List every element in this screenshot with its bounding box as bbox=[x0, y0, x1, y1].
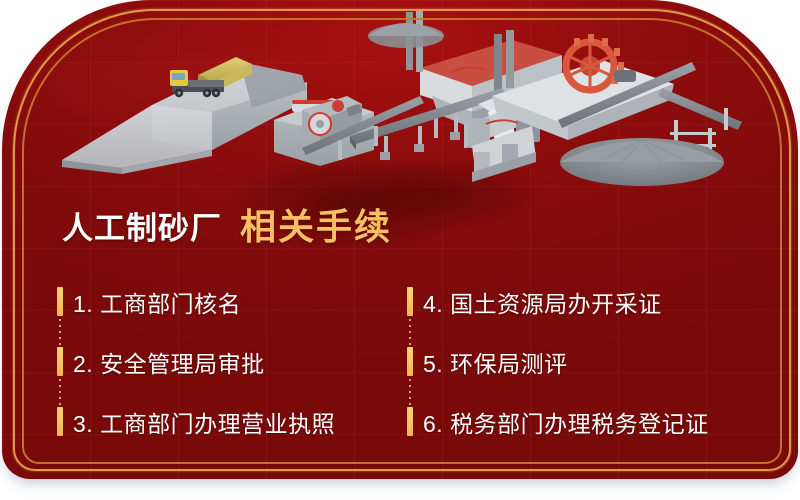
procedure-label: 1. 工商部门核名 bbox=[73, 285, 241, 319]
bullet-bar-icon bbox=[57, 287, 63, 316]
list-item[interactable]: 2. 安全管理局审批 bbox=[57, 332, 407, 392]
sand-plant-illustration bbox=[2, 0, 798, 190]
procedure-list: 1. 工商部门核名 2. 安全管理局审批 3. 工商部门办理营业执照 4. 国土… bbox=[2, 272, 798, 452]
procedure-label: 2. 安全管理局审批 bbox=[73, 345, 265, 379]
jaw-crusher bbox=[274, 96, 374, 166]
procedure-column-left: 1. 工商部门核名 2. 安全管理局审批 3. 工商部门办理营业执照 bbox=[57, 272, 407, 452]
procedure-label: 3. 工商部门办理营业执照 bbox=[73, 405, 335, 439]
procedure-label: 4. 国土资源局办开采证 bbox=[423, 285, 662, 319]
bullet-bar-icon bbox=[57, 407, 63, 436]
procedure-label: 5. 环保局测评 bbox=[423, 345, 568, 379]
headline-primary: 人工制砂厂 bbox=[62, 203, 222, 248]
washing-wheel bbox=[566, 34, 624, 90]
belt-conveyor-main bbox=[350, 88, 508, 160]
procedure-column-right: 4. 国土资源局办开采证 5. 环保局测评 6. 税务部门办理税务登记证 bbox=[407, 272, 757, 452]
bullet-bar-icon bbox=[407, 287, 413, 316]
poster-headline: 人工制砂厂 相关手续 bbox=[62, 198, 392, 250]
poster-canvas: 人工制砂厂 相关手续 1. 工商部门核名 2. 安全管理局审批 3. 工商部门办… bbox=[0, 0, 800, 500]
vsi-sand-maker bbox=[468, 90, 540, 182]
belt-conveyor-right bbox=[558, 62, 742, 152]
list-item[interactable]: 3. 工商部门办理营业执照 bbox=[57, 392, 407, 452]
list-item[interactable]: 5. 环保局测评 bbox=[407, 332, 757, 392]
belt-conveyor-screen-feed bbox=[302, 96, 424, 160]
list-item[interactable]: 1. 工商部门核名 bbox=[57, 272, 407, 332]
sand-stockpile-main bbox=[560, 138, 724, 186]
red-panel-card: 人工制砂厂 相关手续 1. 工商部门核名 2. 安全管理局审批 3. 工商部门办… bbox=[2, 0, 798, 479]
bullet-bar-icon bbox=[407, 407, 413, 436]
feed-ramp bbox=[62, 62, 307, 174]
sand-washing-machine bbox=[492, 34, 674, 140]
dump-truck bbox=[170, 57, 252, 97]
bullet-bar-icon bbox=[57, 347, 63, 376]
vibrating-screen bbox=[406, 10, 562, 148]
list-item[interactable]: 4. 国土资源局办开采证 bbox=[407, 272, 757, 332]
bullet-bar-icon bbox=[407, 347, 413, 376]
headline-highlight: 相关手续 bbox=[240, 198, 392, 250]
list-item[interactable]: 6. 税务部门办理税务登记证 bbox=[407, 392, 757, 452]
sand-stockpile-small bbox=[368, 23, 444, 48]
procedure-label: 6. 税务部门办理税务登记证 bbox=[423, 405, 709, 439]
